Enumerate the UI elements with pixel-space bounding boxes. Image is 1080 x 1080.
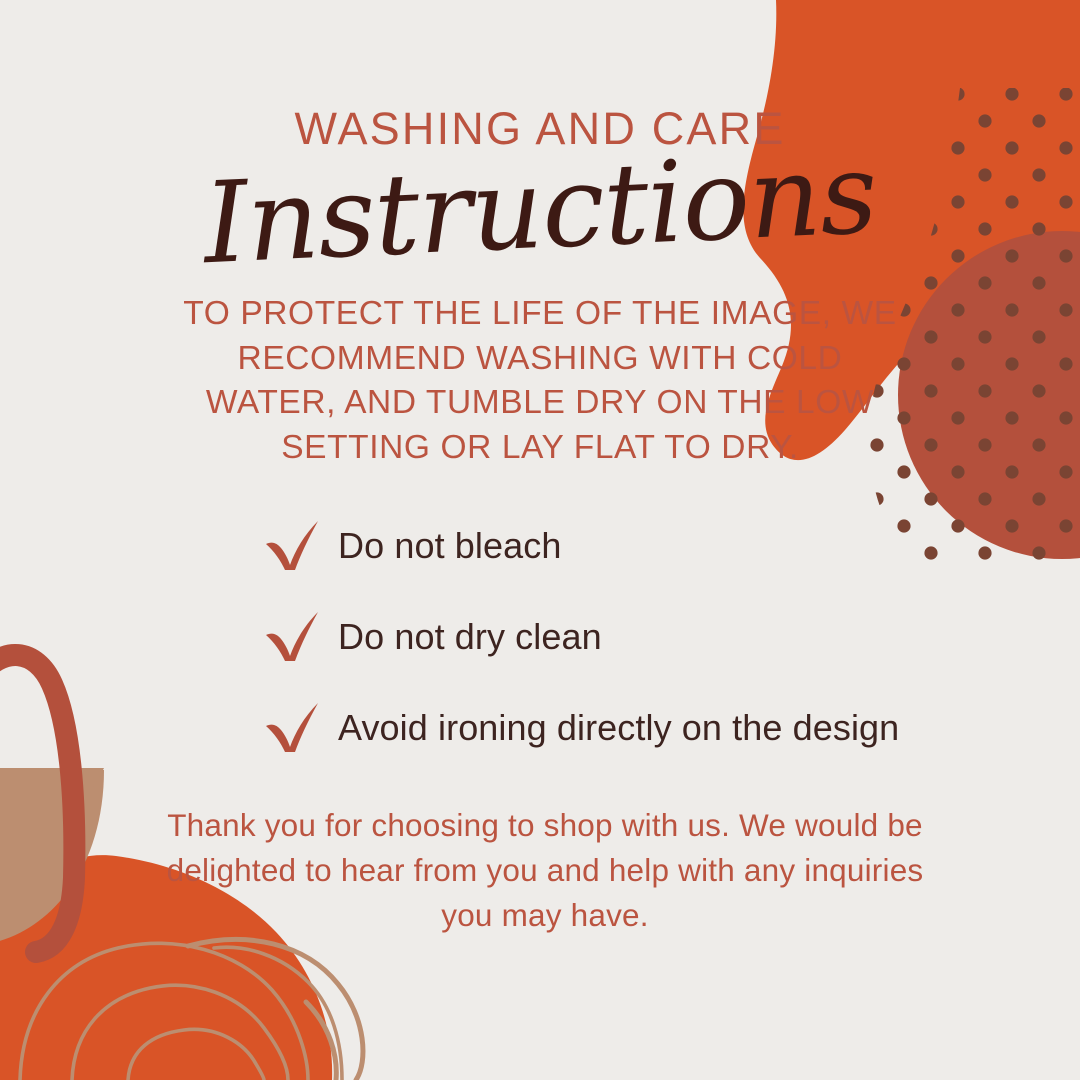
list-item: Do not bleach	[262, 500, 1022, 591]
checkmark-icon	[262, 515, 324, 577]
poster-content: WASHING AND CARE Instructions TO PROTECT…	[0, 0, 1080, 1080]
checkmark-icon	[262, 606, 324, 668]
checkmark-icon	[262, 697, 324, 759]
list-item-label: Do not bleach	[338, 528, 561, 564]
list-item-label: Avoid ironing directly on the design	[338, 710, 899, 746]
page-title: Instructions	[0, 129, 1080, 290]
heading-block: WASHING AND CARE Instructions	[0, 106, 1080, 265]
list-item: Avoid ironing directly on the design	[262, 682, 1022, 773]
list-item: Do not dry clean	[262, 591, 1022, 682]
list-item-label: Do not dry clean	[338, 619, 602, 655]
intro-paragraph: TO PROTECT THE LIFE OF THE IMAGE, WE REC…	[170, 292, 910, 470]
footer-note: Thank you for choosing to shop with us. …	[160, 803, 930, 938]
washing-care-instructions-poster: WASHING AND CARE Instructions TO PROTECT…	[0, 0, 1080, 1080]
care-checklist: Do not bleach Do not dry clean Avoid iro…	[262, 500, 1022, 773]
